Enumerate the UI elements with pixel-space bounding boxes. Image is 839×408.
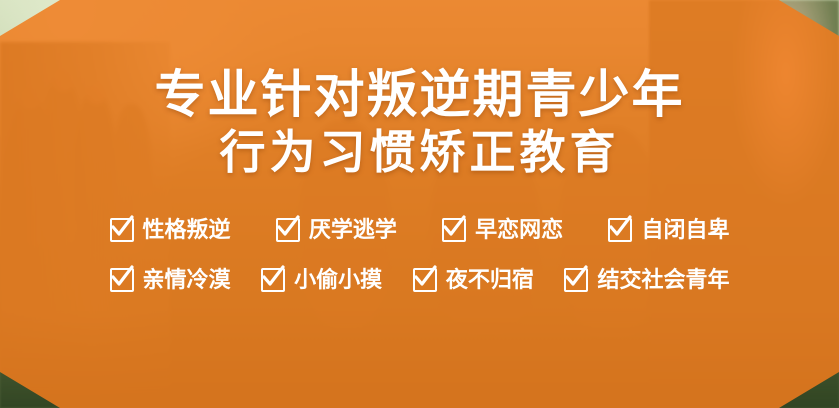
checkbox-checked-icon	[276, 218, 300, 242]
checkbox-checked-icon	[261, 268, 285, 292]
checklist-row: 亲情冷漠 小偷小摸 夜不归宿	[110, 268, 730, 292]
list-item-label: 自闭自卑	[641, 219, 729, 241]
checkbox-checked-icon	[110, 218, 134, 242]
list-item-label: 厌学逃学	[309, 219, 397, 241]
checkbox-checked-icon	[413, 268, 437, 292]
headline-line-2: 行为习惯矫正教育	[154, 124, 684, 180]
list-item: 早恋网恋	[442, 218, 563, 242]
list-item: 结交社会青年	[564, 268, 729, 292]
checkbox-checked-icon	[442, 218, 466, 242]
headline-line-1: 专业针对叛逆期青少年	[154, 66, 684, 124]
list-item-label: 小偷小摸	[294, 269, 382, 291]
checkbox-checked-icon	[110, 268, 134, 292]
list-item-label: 结交社会青年	[597, 269, 729, 291]
list-item-label: 性格叛逆	[143, 219, 231, 241]
list-item: 厌学逃学	[276, 218, 397, 242]
list-item-label: 亲情冷漠	[143, 269, 231, 291]
list-item: 亲情冷漠	[110, 268, 231, 292]
list-item: 性格叛逆	[110, 218, 231, 242]
checkbox-checked-icon	[564, 268, 588, 292]
checklist: 性格叛逆 厌学逃学 早恋网恋	[110, 218, 730, 318]
list-item: 自闭自卑	[608, 218, 729, 242]
list-item-label: 夜不归宿	[446, 269, 534, 291]
list-item: 小偷小摸	[261, 268, 382, 292]
checklist-row: 性格叛逆 厌学逃学 早恋网恋	[110, 218, 730, 242]
promo-banner: 专业针对叛逆期青少年 行为习惯矫正教育 性格叛逆 厌学逃学	[0, 0, 839, 408]
list-item: 夜不归宿	[413, 268, 534, 292]
banner-content: 专业针对叛逆期青少年 行为习惯矫正教育 性格叛逆 厌学逃学	[0, 0, 839, 408]
list-item-label: 早恋网恋	[475, 219, 563, 241]
page-title: 专业针对叛逆期青少年 行为习惯矫正教育	[154, 66, 684, 180]
checkbox-checked-icon	[608, 218, 632, 242]
